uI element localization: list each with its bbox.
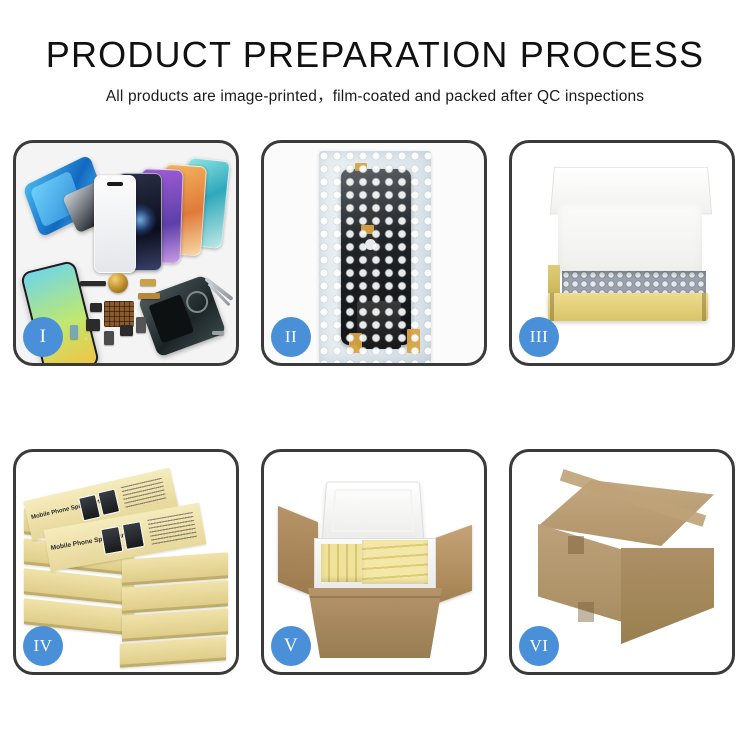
- carton-corner-tab-lower: [578, 602, 594, 622]
- process-step-2[interactable]: II: [261, 140, 487, 366]
- process-step-4[interactable]: Mobile Phone Spare Parts Mobile Phone Sp…: [13, 449, 239, 675]
- sim-tray-part: [136, 317, 146, 333]
- kraft-box-r4: [120, 636, 226, 667]
- box-label-checklist: [121, 478, 167, 511]
- button-flex-part: [104, 331, 114, 345]
- carton-corner-tab-upper: [568, 536, 584, 554]
- connector-part: [140, 279, 156, 286]
- yellow-boxes-row-back: [362, 540, 428, 584]
- step-6-badge: VI: [519, 626, 559, 666]
- phone-fan-group: [88, 157, 236, 277]
- carton-front-panel: [308, 588, 442, 658]
- step-5-badge: V: [271, 626, 311, 666]
- step-4-badge: IV: [23, 626, 63, 666]
- box-label-screen-1: [78, 494, 101, 521]
- header: PRODUCT PREPARATION PROCESS All products…: [0, 36, 750, 106]
- bubble-wrap-bag: [319, 151, 431, 363]
- box-label-screen-2: [97, 488, 120, 515]
- box-label-front-screen-1: [100, 526, 123, 555]
- process-step-5[interactable]: V: [261, 449, 487, 675]
- speaker-coil-part: [108, 273, 128, 293]
- page-title: PRODUCT PREPARATION PROCESS: [0, 36, 750, 74]
- step-2-badge: II: [271, 317, 311, 357]
- phone-white: [94, 175, 136, 273]
- small-ic-part: [90, 303, 102, 312]
- bubble-texture: [319, 151, 431, 363]
- flex-cable-part: [80, 281, 106, 286]
- vibrator-motor-part: [70, 325, 78, 339]
- box-label-front-checklist: [147, 512, 197, 546]
- battery-connector-part: [120, 325, 133, 336]
- page-subtitle: All products are image-printed，film-coat…: [0, 84, 750, 106]
- box-side-panel: [548, 265, 560, 295]
- bracket-part: [86, 319, 100, 331]
- process-step-1[interactable]: I: [13, 140, 239, 366]
- step-3-badge: III: [519, 317, 559, 357]
- foam-padding-sheet: [558, 203, 702, 273]
- screws-group-part: [212, 331, 224, 335]
- process-step-grid: I II: [13, 140, 739, 675]
- box-front-panel: [548, 293, 708, 321]
- styrofoam-lid: [322, 482, 425, 541]
- process-step-6[interactable]: VI: [509, 449, 735, 675]
- product-preparation-infographic: PRODUCT PREPARATION PROCESS All products…: [0, 0, 750, 750]
- step-1-badge: I: [23, 317, 63, 357]
- process-step-3[interactable]: III: [509, 140, 735, 366]
- chip-grid-part: [104, 301, 134, 327]
- carton-right-face: [621, 548, 714, 644]
- box-label-front-screen-2: [122, 521, 145, 550]
- ribbon-cable-part: [138, 293, 160, 299]
- carton-flap-left: [278, 506, 318, 598]
